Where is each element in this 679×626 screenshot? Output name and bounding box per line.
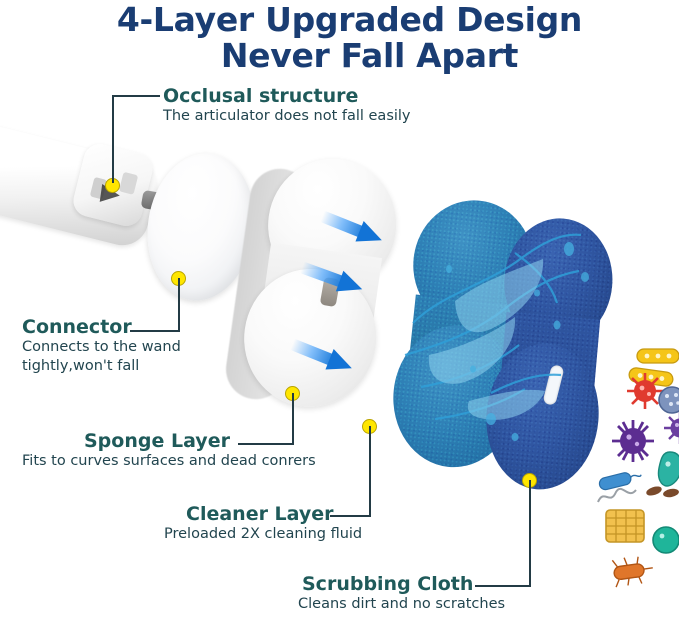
- title-line-1: 4-Layer Upgraded Design: [0, 2, 679, 38]
- leader-line-cleaner-v: [369, 426, 371, 516]
- callout-scrubbing-cloth: Scrubbing Cloth Cleans dirt and no scrat…: [302, 573, 505, 614]
- callout-subtitle-connector-line1: Connects to the wand: [22, 338, 181, 357]
- leader-line-occlusal-h: [112, 95, 160, 97]
- callout-connector: Connector Connects to the wand tightly,w…: [22, 316, 181, 376]
- page-title: 4-Layer Upgraded Design Never Fall Apart: [0, 2, 679, 74]
- germ-sponge-yellow-icon: [604, 506, 646, 546]
- callout-subtitle-scrubbing-cloth: Cleans dirt and no scratches: [298, 595, 505, 614]
- title-line-2: Never Fall Apart: [0, 38, 679, 74]
- leader-line-cloth-v: [529, 480, 531, 586]
- callout-heading-scrubbing-cloth: Scrubbing Cloth: [302, 573, 505, 595]
- callout-cleaner-layer: Cleaner Layer Preloaded 2X cleaning flui…: [186, 503, 362, 544]
- germ-virus-purple-1-icon: [662, 410, 679, 446]
- callout-heading-cleaner-layer: Cleaner Layer: [186, 503, 362, 525]
- callout-heading-occlusal-structure: Occlusal structure: [163, 85, 411, 107]
- callout-occlusal-structure: Occlusal structure The articulator does …: [163, 85, 411, 126]
- callout-sponge-layer: Sponge Layer Fits to curves surfaces and…: [84, 430, 316, 471]
- germ-rod-orange-icon: [604, 553, 656, 589]
- infographic-canvas: 4-Layer Upgraded Design Never Fall Apart: [0, 0, 679, 626]
- callout-heading-connector: Connector: [22, 316, 181, 338]
- callout-subtitle-occlusal-structure: The articulator does not fall easily: [163, 107, 411, 126]
- callout-subtitle-cleaner-layer: Preloaded 2X cleaning fluid: [164, 525, 362, 544]
- germ-rod-yellow-1-icon: [636, 345, 679, 367]
- callout-subtitle-connector-line2: tightly,won't fall: [22, 357, 181, 376]
- germ-bacillus-brown-icon: [644, 480, 679, 502]
- callout-subtitle-sponge-layer: Fits to curves surfaces and dead conrers: [22, 452, 316, 471]
- callout-heading-sponge-layer: Sponge Layer: [84, 430, 316, 452]
- germ-circle-green-icon: [650, 524, 679, 556]
- germ-virus-purple-2-icon: [610, 418, 656, 464]
- leader-line-occlusal-v: [112, 95, 114, 183]
